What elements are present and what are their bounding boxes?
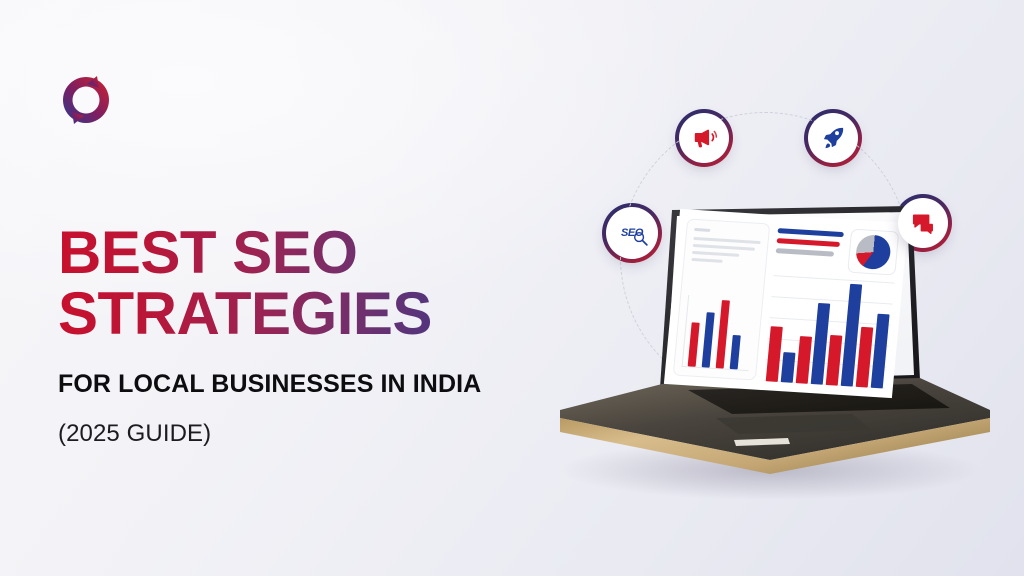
laptop-screen-dashboard (664, 209, 908, 398)
bar (730, 335, 741, 370)
chat-badge[interactable] (898, 198, 948, 248)
page-title-line-2: STRATEGIES (58, 285, 578, 344)
text-line (693, 244, 755, 250)
bar (716, 300, 730, 369)
text-line (693, 237, 760, 244)
legend-key-bars (776, 224, 845, 257)
circular-ring-logo (58, 72, 114, 128)
rocket-icon (820, 125, 846, 151)
hero-text-block: BEST SEO STRATEGIES FOR LOCAL BUSINESSES… (58, 224, 578, 448)
rocket-badge[interactable] (808, 113, 858, 163)
text-line (692, 251, 739, 257)
bar (796, 336, 813, 383)
text-line (691, 258, 722, 263)
bar (825, 335, 842, 386)
bar (702, 312, 715, 368)
guide-year-label: (2025 GUIDE) (58, 420, 578, 448)
seo-badge[interactable]: SEO (606, 207, 658, 259)
megaphone-badge[interactable] (679, 113, 729, 163)
megaphone-icon (691, 125, 717, 151)
main-bar-chart (764, 275, 895, 389)
dashboard-right-column (764, 224, 900, 389)
bar (781, 352, 796, 382)
pie-chart (855, 234, 892, 270)
page-title-line-1: BEST SEO (58, 224, 578, 283)
subtitle: FOR LOCAL BUSINESSES IN INDIA (58, 370, 578, 399)
seo-magnifier-icon (632, 230, 649, 247)
pie-chart-card (847, 229, 899, 276)
legend-bar (777, 228, 843, 237)
left-bar-chart (682, 295, 756, 371)
hero-illustration: SEO (520, 88, 1020, 518)
bar (688, 322, 700, 367)
card-heading-placeholder (694, 228, 710, 232)
chat-bubbles-icon (910, 210, 936, 236)
legend-bar (777, 238, 840, 247)
legend-bar (776, 248, 835, 257)
dashboard-left-card (673, 218, 771, 380)
brand-logo[interactable] (58, 72, 114, 128)
